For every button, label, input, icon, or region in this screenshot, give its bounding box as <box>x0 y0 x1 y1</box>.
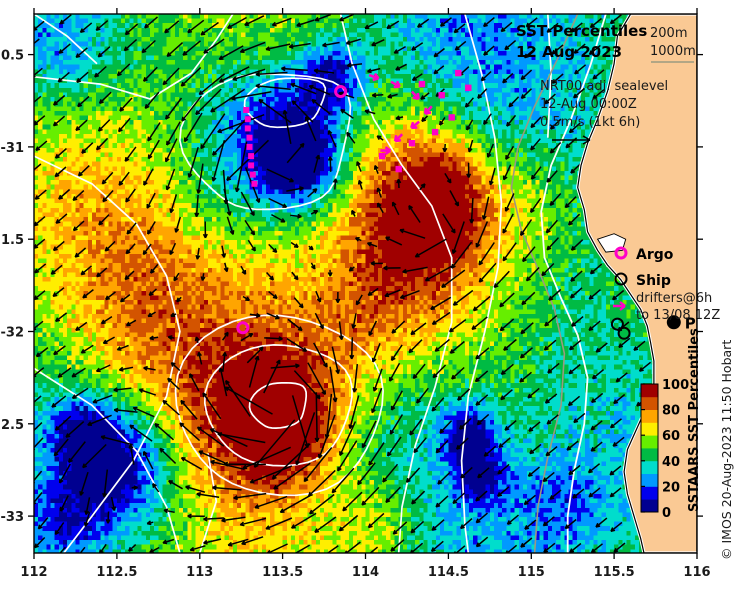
figure-canvas: PerthSST Percentiles12 Aug 2023200m1000m… <box>0 0 740 592</box>
drifter-marker <box>439 92 445 98</box>
ship-legend-label: Ship <box>636 273 671 289</box>
drifter-marker <box>243 107 249 113</box>
copyright-credit: © IMOS 20-Aug-2023 11:50 Hobart <box>719 340 734 560</box>
x-axis-tick-label: 115 <box>518 565 545 580</box>
x-axis-tick-label: 112.5 <box>96 565 137 580</box>
drifters-legend-line1: drifters@6h <box>636 291 712 306</box>
drifter-marker <box>248 162 254 168</box>
drifter-marker <box>449 114 455 120</box>
y-axis-tick-label: -32.5 <box>0 418 24 433</box>
drifter-marker <box>419 81 425 87</box>
current-product-label: NRT00 adj. sealevel <box>540 79 668 94</box>
drifter-marker <box>245 125 251 131</box>
x-axis-tick-label: 116 <box>683 565 710 580</box>
colorbar-tick-label: 0 <box>662 506 671 521</box>
y-axis-tick-label: -33 <box>1 510 25 525</box>
drifter-marker <box>247 135 253 141</box>
colorbar-band <box>641 448 658 461</box>
drifter-marker <box>245 116 251 122</box>
y-axis-tick-label: -30.5 <box>0 49 24 64</box>
drifter-marker <box>247 144 253 150</box>
current-time-label: 12-Aug 00:00Z <box>540 97 637 112</box>
sst-percentile-map: PerthSST Percentiles12 Aug 2023200m1000m… <box>0 0 740 592</box>
current-scale-label: 0.5m/s (1kt 6h) <box>540 115 640 130</box>
colorbar-band <box>641 499 658 512</box>
y-axis-tick-label: -31 <box>1 141 25 156</box>
colorbar-band <box>641 461 658 474</box>
colorbar-band <box>641 474 658 487</box>
drifters-legend-line2: to 13/08 12Z <box>636 308 720 323</box>
y-axis-tick-label: -31.5 <box>0 233 24 248</box>
drifter-marker <box>455 70 461 76</box>
colorbar-band <box>641 422 658 435</box>
colorbar-tick-label: 80 <box>662 404 680 419</box>
drifter-marker <box>248 153 254 159</box>
x-axis-tick-label: 112 <box>20 565 47 580</box>
colorbar-band <box>641 410 658 423</box>
drifter-marker <box>379 153 385 159</box>
colorbar-band <box>641 486 658 499</box>
drifter-marker <box>251 181 257 187</box>
colorbar-band <box>641 397 658 410</box>
colorbar-band <box>641 435 658 448</box>
map-title-line1: SST Percentiles <box>516 22 647 40</box>
drifter-marker <box>432 129 438 135</box>
map-title-line2: 12 Aug 2023 <box>516 43 622 61</box>
colorbar-tick-label: 20 <box>662 480 680 495</box>
drifter-marker <box>465 85 471 91</box>
argo-legend-label: Argo <box>636 247 674 263</box>
drifter-marker <box>396 166 402 172</box>
drifter-marker <box>409 140 415 146</box>
colorbar-tick-label: 40 <box>662 455 680 470</box>
depth-label-1000m: 1000m <box>650 44 696 59</box>
x-axis-tick-label: 114.5 <box>428 565 469 580</box>
colorbar-band <box>641 384 658 397</box>
colorbar-tick-label: 100 <box>662 378 689 393</box>
x-axis-tick-label: 115.5 <box>594 565 635 580</box>
drifter-marker <box>250 172 256 178</box>
y-axis-tick-label: -32 <box>1 325 25 340</box>
colorbar-tick-label: 60 <box>662 429 680 444</box>
colorbar-axis-label: SSTAARS SST Percentiles <box>687 328 702 512</box>
x-axis-tick-label: 113.5 <box>262 565 303 580</box>
plot-area: Perth <box>28 13 731 559</box>
depth-label-200m: 200m <box>650 26 687 41</box>
x-axis-tick-label: 114 <box>352 565 379 580</box>
x-axis-tick-label: 113 <box>186 565 213 580</box>
